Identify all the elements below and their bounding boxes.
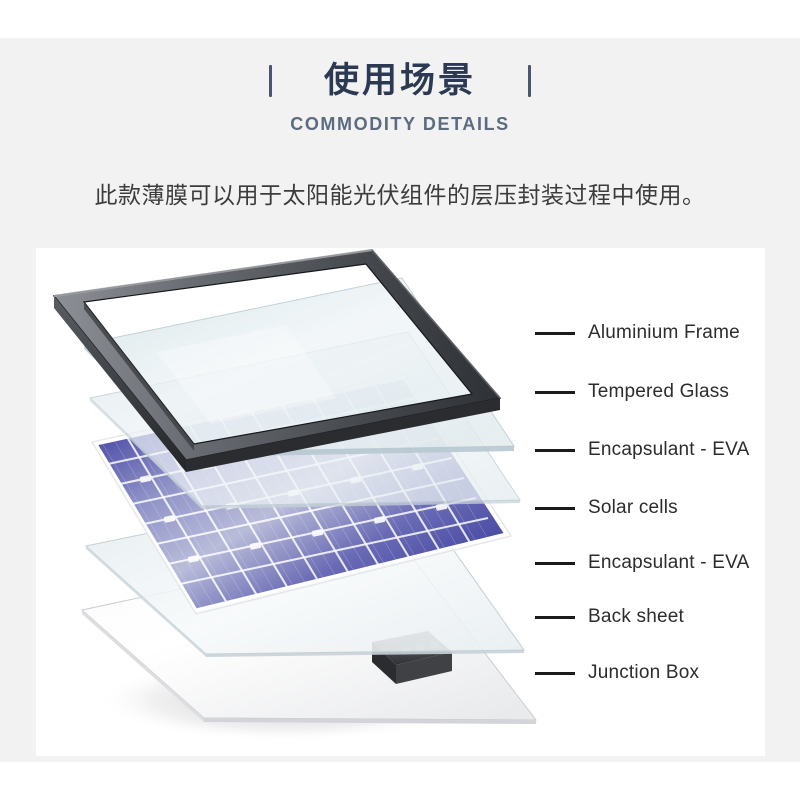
leader-line-icon [535, 507, 575, 510]
callout-back-sheet[interactable]: Back sheet [535, 606, 684, 628]
title-rule-left-icon [269, 65, 272, 97]
page-bottom-margin [0, 762, 800, 800]
callout-label: Aluminium Frame [588, 322, 740, 344]
callout-tempered-glass[interactable]: Tempered Glass [535, 381, 729, 403]
title-rule-right-icon [528, 65, 531, 97]
callout-junction-box[interactable]: Junction Box [535, 662, 699, 684]
callout-encapsulant-eva-bottom[interactable]: Encapsulant - EVA [535, 552, 749, 574]
leader-line-icon [535, 391, 575, 394]
callout-label: Tempered Glass [588, 381, 729, 403]
solar-panel-exploded-diagram [36, 248, 556, 756]
media-panel: Aluminium Frame Tempered Glass Encapsula… [36, 248, 765, 756]
callout-label: Encapsulant - EVA [588, 439, 749, 461]
leader-line-icon [535, 332, 575, 335]
page-top-margin [0, 0, 800, 38]
callout-label: Solar cells [588, 497, 678, 519]
callout-encapsulant-eva-top[interactable]: Encapsulant - EVA [535, 439, 749, 461]
page-title: 使用场景 [324, 59, 476, 103]
leader-line-icon [535, 616, 575, 619]
callout-solar-cells[interactable]: Solar cells [535, 497, 678, 519]
header-title-row: 使用场景 [0, 56, 800, 106]
leader-line-icon [535, 672, 575, 675]
leader-line-icon [535, 449, 575, 452]
callout-label: Back sheet [588, 606, 684, 628]
leader-line-icon [535, 562, 575, 565]
callout-label: Junction Box [588, 662, 699, 684]
callout-label: Encapsulant - EVA [588, 552, 749, 574]
page-subtitle: COMMODITY DETAILS [0, 114, 800, 135]
section-header: 使用场景 COMMODITY DETAILS [0, 56, 800, 135]
lead-paragraph: 此款薄膜可以用于太阳能光伏组件的层压封装过程中使用。 [0, 176, 800, 210]
callout-aluminium-frame[interactable]: Aluminium Frame [535, 322, 740, 344]
